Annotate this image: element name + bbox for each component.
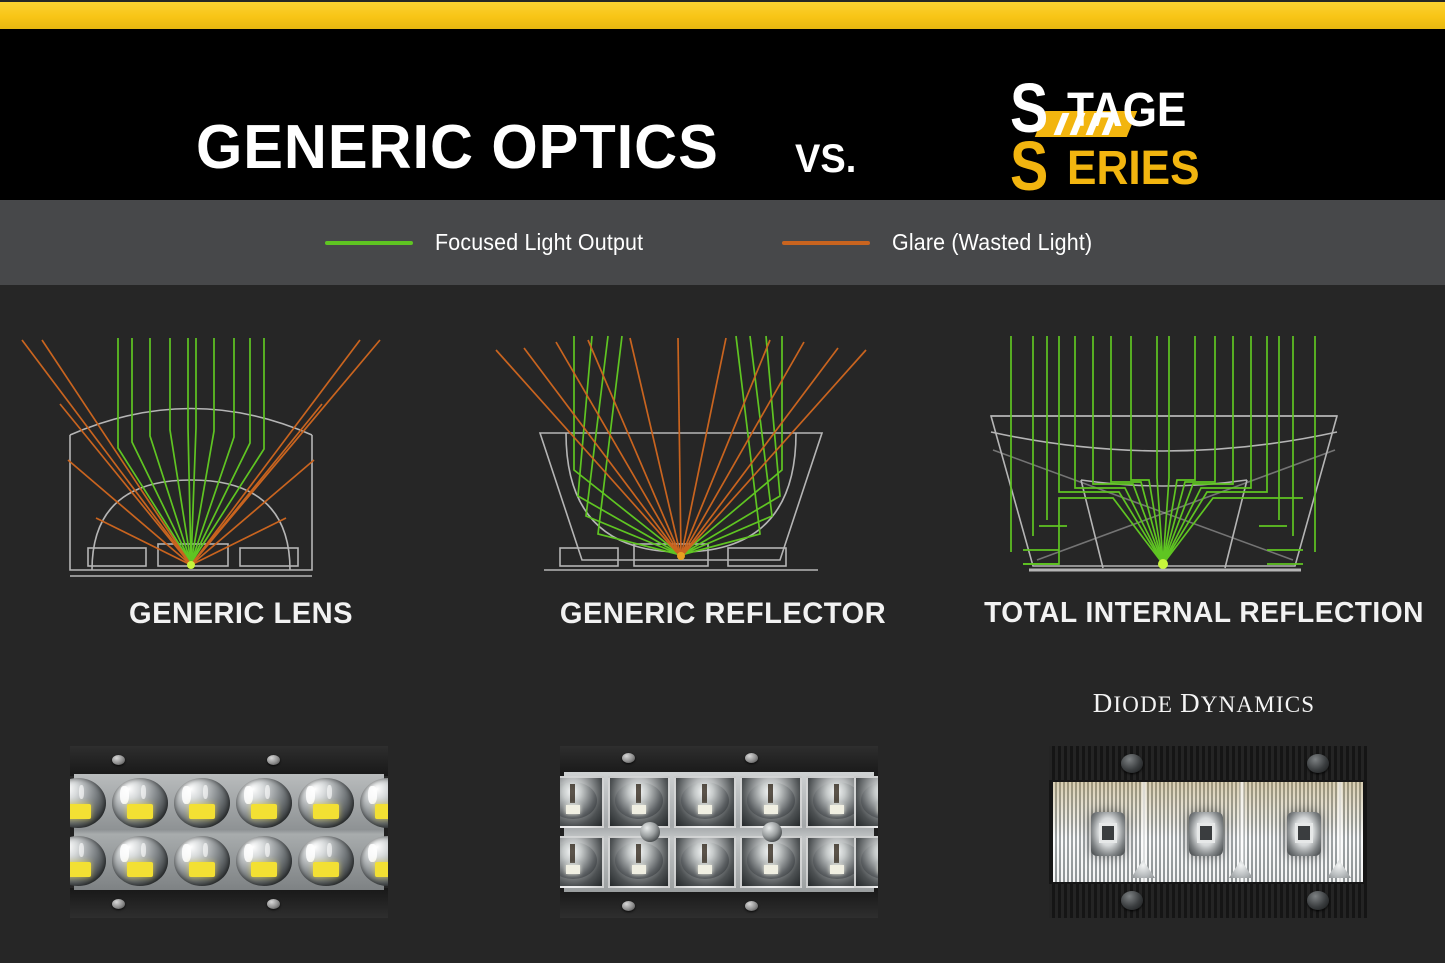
reflector-center-screw (640, 822, 660, 842)
brandmark-d1: D (1093, 688, 1114, 718)
reflector-cup (740, 776, 802, 828)
logo-series-rest: ERIES (1067, 145, 1200, 193)
lens-optic-face (74, 774, 384, 890)
product-photo-generic-reflector (560, 746, 878, 918)
housing-screw (267, 899, 280, 909)
top-accent-bar-gradient (0, 2, 1445, 29)
diode-dynamics-brandmark: DIODE DYNAMICS (963, 688, 1445, 719)
column-total-internal-reflection: TOTAL INTERNAL REFLECTION DIODE DYNAMICS (963, 285, 1445, 963)
reflector-cup (674, 776, 736, 828)
legend-swatch-focused-icon (325, 241, 413, 245)
legend-label-focused: Focused Light Output (435, 229, 643, 256)
housing-screw (267, 755, 280, 765)
led-source-point (677, 552, 685, 560)
ray-diagram-generic-lens (0, 320, 482, 590)
brandmark-iode: IODE (1113, 692, 1173, 717)
brandmark-d2: D (1180, 688, 1201, 718)
header-title-group: GENERIC OPTICS VS. S TAGE S ERIES (0, 29, 1445, 200)
stage-series-logo: S TAGE S ERIES (1010, 77, 1240, 195)
lens-bar-housing (70, 746, 388, 918)
reflector-cup (674, 836, 736, 888)
led-source-point (1158, 559, 1168, 569)
focused-rays (1011, 336, 1315, 564)
lens-dome (360, 778, 388, 828)
housing-screw (1307, 891, 1329, 910)
tir-emitter (1287, 812, 1321, 856)
housing-screw (745, 753, 758, 763)
tir-optic-face (1053, 782, 1363, 882)
logo-stage-rest: TAGE (1067, 87, 1186, 135)
legend-item-focused: Focused Light Output (325, 200, 659, 285)
optic-label-generic-reflector: GENERIC REFLECTOR (489, 597, 957, 631)
reflector-cup (608, 836, 670, 888)
lens-dome (236, 836, 292, 886)
legend-swatch-glare-icon (782, 241, 870, 245)
lens-dome (70, 778, 106, 828)
comparison-body: GENERIC LENS (0, 285, 1445, 963)
housing-screw (1307, 754, 1329, 773)
legend-label-glare: Glare (Wasted Light) (892, 229, 1092, 256)
ray-diagram-tir (963, 320, 1445, 590)
housing-screw (622, 753, 635, 763)
reflector-cup (740, 836, 802, 888)
legend-item-glare: Glare (Wasted Light) (782, 200, 1107, 285)
housing-screw (745, 901, 758, 911)
ray-diagram-generic-reflector (482, 320, 964, 590)
lens-dome (112, 778, 168, 828)
lens-row-upper (74, 774, 384, 832)
lens-dome (360, 836, 388, 886)
header-band: GENERIC OPTICS VS. S TAGE S ERIES (0, 29, 1445, 200)
lens-dome (174, 778, 230, 828)
top-accent-bar (0, 2, 1445, 29)
reflector-cup (560, 836, 604, 888)
brandmark-ynamics: YNAMICS (1201, 692, 1315, 717)
led-source-point (187, 561, 195, 569)
lens-row-lower (74, 832, 384, 890)
glare-rays (496, 338, 866, 557)
lens-dome (298, 778, 354, 828)
legend-band: Focused Light Output Glare (Wasted Light… (0, 200, 1445, 285)
product-photo-tir (1049, 746, 1367, 918)
focused-rays (118, 338, 264, 563)
housing-screw (1121, 754, 1143, 773)
lens-dome (112, 836, 168, 886)
lens-dome (70, 836, 106, 886)
tir-bar-housing (1049, 746, 1367, 918)
lens-dome (298, 836, 354, 886)
tir-emitter (1091, 812, 1125, 856)
optic-label-generic-lens: GENERIC LENS (7, 597, 475, 631)
column-generic-lens: GENERIC LENS (0, 285, 482, 963)
page-title-generic-optics: GENERIC OPTICS (196, 117, 719, 179)
logo-series-initial: S (1010, 131, 1048, 201)
reflector-bar-housing (560, 746, 878, 918)
tir-emitter (1189, 812, 1223, 856)
lens-dome (174, 836, 230, 886)
housing-screw (1121, 891, 1143, 910)
optic-label-total-internal-reflection: TOTAL INTERNAL REFLECTION (970, 597, 1438, 630)
versus-label: VS. (795, 139, 856, 179)
reflector-cup (854, 776, 878, 828)
reflector-cup (608, 776, 670, 828)
column-generic-reflector: GENERIC REFLECTOR (482, 285, 964, 963)
lens-dome (236, 778, 292, 828)
reflector-center-screw (762, 822, 782, 842)
housing-screw (112, 755, 125, 765)
infographic-root: GENERIC OPTICS VS. S TAGE S ERIES (0, 0, 1445, 963)
logo-line-series: S ERIES (1010, 133, 1240, 195)
housing-screw (622, 901, 635, 911)
reflector-cup (854, 836, 878, 888)
housing-screw (112, 899, 125, 909)
reflector-cup (560, 776, 604, 828)
reflector-optic-face (564, 772, 874, 892)
housing-rail-bottom (560, 888, 878, 918)
product-photo-generic-lens (70, 746, 388, 918)
